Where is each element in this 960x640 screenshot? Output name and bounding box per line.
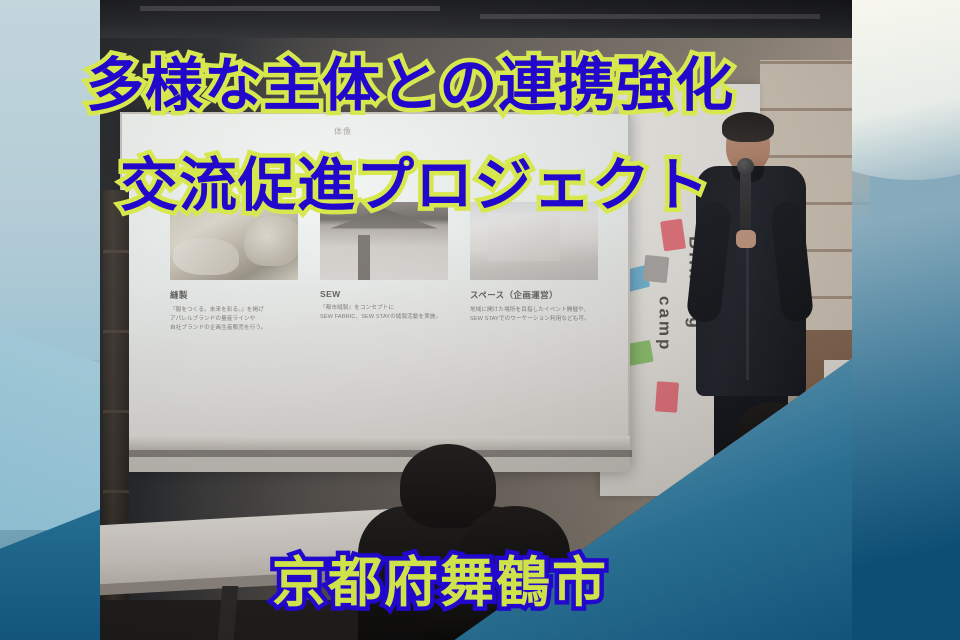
slide-card-body: 『都市縫製』をコンセプトに SEW FABRIC、SEW STAYの縫製活動を実… xyxy=(320,304,448,322)
mullion-rung xyxy=(103,410,129,413)
ceiling-beam xyxy=(140,6,440,11)
mullion-rung xyxy=(103,250,129,253)
banner-word-camp: camp xyxy=(656,296,673,352)
microphone-body xyxy=(740,166,751,240)
screen-bottom-bar xyxy=(120,436,630,450)
screen-shadow xyxy=(120,450,632,457)
background-right-panel xyxy=(852,0,960,640)
slide-tag-text: 体像 xyxy=(334,126,352,137)
speaker-hand xyxy=(736,230,756,248)
title-line-2: 交流促進プロジェクト xyxy=(120,138,710,222)
slide-card-title: SEW xyxy=(320,289,448,299)
title-line-1: 多様な主体との連携強化 xyxy=(86,38,734,122)
mullion-rung xyxy=(103,330,129,333)
slide-card-body: 『服をつくる。未来を彩る。』を掲げ アパレルブランドの量産ラインや 自社ブランド… xyxy=(170,306,298,333)
mullion-rung xyxy=(103,490,129,493)
banner-square-red xyxy=(660,219,686,252)
banner-square-gray xyxy=(643,255,670,283)
slide-card-body: 地域に開けた場所を目指したイベント開催や、 SEW STAYでのワーケーション利… xyxy=(470,306,598,324)
slide-card-title: 縫製 xyxy=(170,289,298,301)
city-label: 京都府舞鶴市 xyxy=(272,538,608,617)
slide-thumbnail-canvas: SAKU Blinking camp 体像 xyxy=(0,0,960,640)
background-right-gradient xyxy=(852,0,960,640)
microphone-head-icon xyxy=(737,158,754,175)
ceiling-beam xyxy=(480,14,820,19)
banner-square-pink xyxy=(655,381,679,412)
slide-card-title: スペース（企画運営） xyxy=(470,289,598,301)
